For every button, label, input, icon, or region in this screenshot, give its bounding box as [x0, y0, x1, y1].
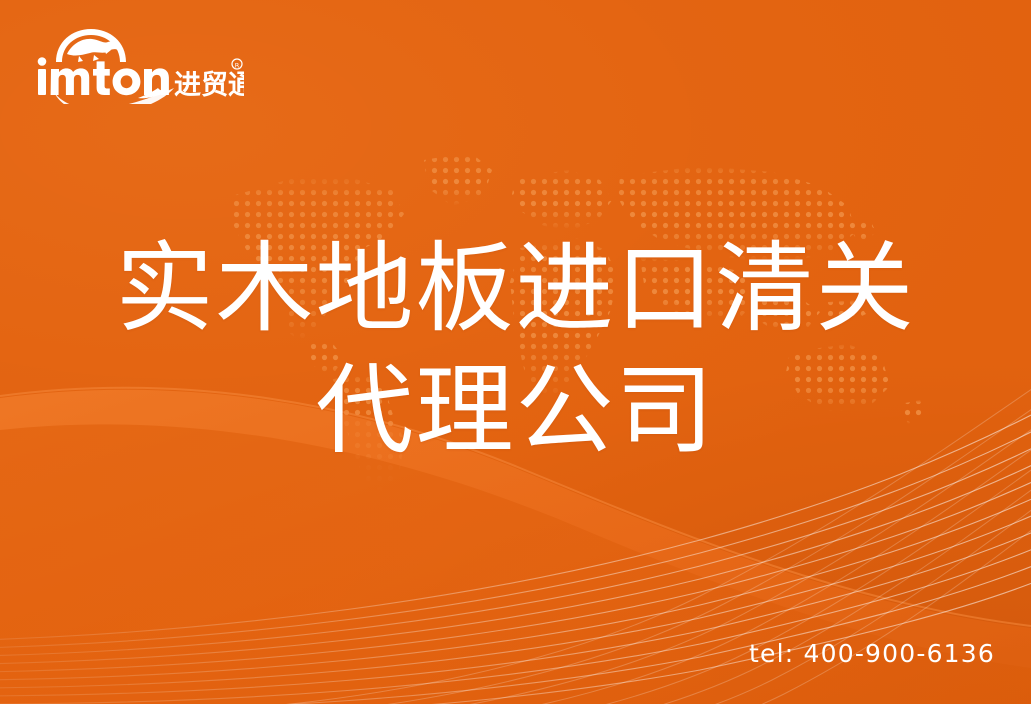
promo-banner: 进贸通 R 实木地板进口清关 代理公司 tel: 400-900-6136 — [0, 0, 1031, 704]
contact-phone[interactable]: tel: 400-900-6136 — [749, 639, 995, 668]
logo-chinese-text: 进贸通 — [174, 70, 244, 101]
svg-text:R: R — [235, 62, 240, 70]
brand-logo[interactable]: 进贸通 R — [34, 26, 244, 104]
registered-mark-icon: R — [232, 59, 242, 70]
headline-line-2: 代理公司 — [0, 350, 1031, 472]
headline-line-1: 实木地板进口清关 — [0, 228, 1031, 350]
page-title: 实木地板进口清关 代理公司 — [0, 228, 1031, 472]
